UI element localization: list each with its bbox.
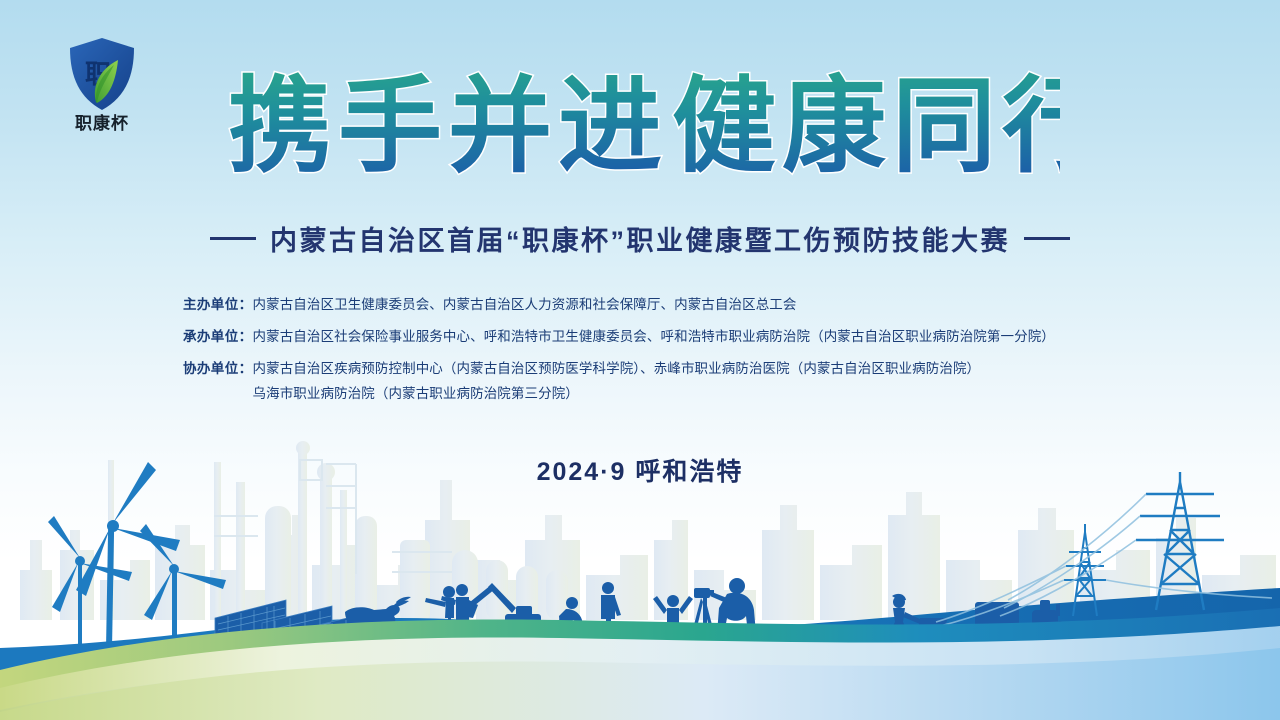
organizer-value-line2: 乌海市职业病防治院（内蒙古职业病防治院第三分院）	[253, 385, 1184, 403]
subtitle: 内蒙古自治区首届“职康杯”职业健康暨工伤预防技能大赛	[0, 219, 1280, 258]
organizer-label: 主办单位：	[183, 296, 253, 314]
headline-line1: 携手并进	[228, 64, 668, 187]
headline: 携手并进 健康同行	[0, 58, 1280, 198]
poster: 职 职康杯 携手并进 健康同行 内蒙古自治区首届“职康杯”职业健康暨工伤预防技能…	[0, 0, 1280, 720]
organizer-value: 内蒙古自治区卫生健康委员会、内蒙古自治区人力资源和社会保障厅、内蒙古自治区总工会	[253, 296, 1184, 314]
subtitle-text: 内蒙古自治区首届“职康杯”职业健康暨工伤预防技能大赛	[270, 226, 1010, 256]
organizer-label: 承办单位：	[183, 328, 253, 346]
subtitle-rule-left	[210, 237, 256, 240]
organizer-block: 主办单位： 内蒙古自治区卫生健康委员会、内蒙古自治区人力资源和社会保障厅、内蒙古…	[183, 296, 1183, 417]
organizer-label: 协办单位：	[183, 360, 253, 378]
organizer-row: 承办单位： 内蒙古自治区社会保险事业服务中心、呼和浩特市卫生健康委员会、呼和浩特…	[183, 328, 1183, 346]
organizer-value: 内蒙古自治区疾病预防控制中心（内蒙古自治区预防医学科学院）、赤峰市职业病防治医院…	[253, 360, 1184, 402]
organizer-value: 内蒙古自治区社会保险事业服务中心、呼和浩特市卫生健康委员会、呼和浩特市职业病防治…	[253, 328, 1184, 346]
organizer-row: 主办单位： 内蒙古自治区卫生健康委员会、内蒙古自治区人力资源和社会保障厅、内蒙古…	[183, 296, 1183, 314]
headline-line2: 健康同行	[672, 64, 1060, 187]
subtitle-rule-right	[1024, 237, 1070, 240]
dateline: 2024·9 呼和浩特	[0, 452, 1280, 488]
organizer-value-line1: 内蒙古自治区疾病预防控制中心（内蒙古自治区预防医学科学院）、赤峰市职业病防治医院…	[253, 361, 981, 376]
organizer-row: 协办单位： 内蒙古自治区疾病预防控制中心（内蒙古自治区预防医学科学院）、赤峰市职…	[183, 360, 1183, 402]
